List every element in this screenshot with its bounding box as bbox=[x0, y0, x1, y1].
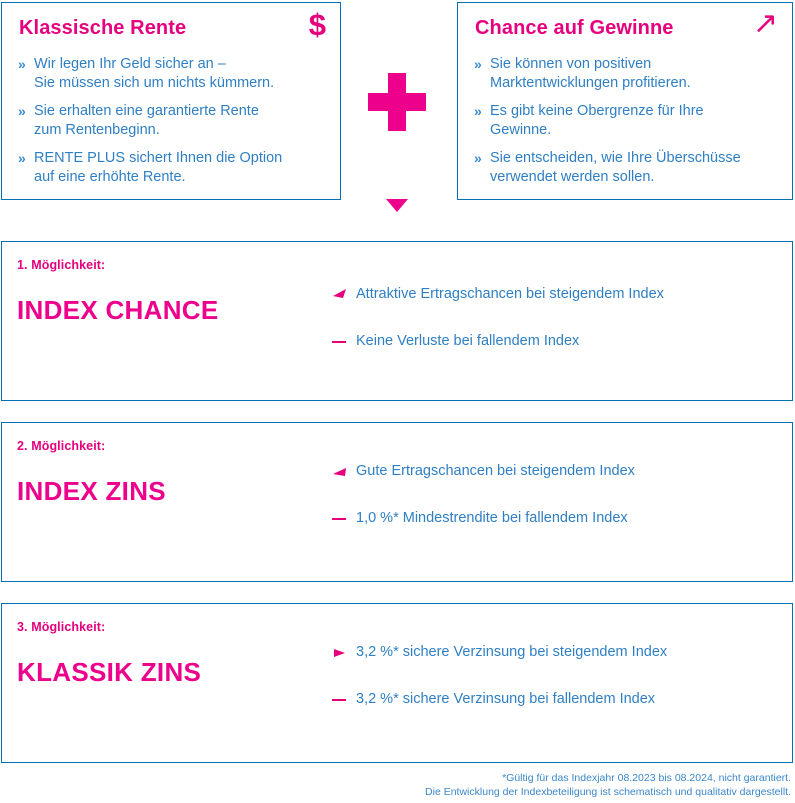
option-points-list: 3,2 %* sichere Verzinsung bei steigendem… bbox=[332, 644, 778, 738]
list-item-label: Gute Ertragschancen bei steigendem Index bbox=[356, 463, 635, 480]
list-item-label: Sie können von positiven Marktentwicklun… bbox=[490, 55, 691, 93]
list-item: » Sie erhalten eine garantierte Rente zu… bbox=[18, 102, 328, 140]
list-item: » Sie entscheiden, wie Ihre Überschüsse … bbox=[474, 149, 780, 187]
dash-icon bbox=[332, 333, 356, 350]
arrow-right-tilt-icon bbox=[332, 463, 356, 480]
chevron-double-right-icon: » bbox=[18, 55, 34, 74]
list-item-label: 3,2 %* sichere Verzinsung bei fallendem … bbox=[356, 691, 655, 708]
dash-icon bbox=[332, 691, 356, 708]
option-kicker: 3. Möglichkeit: bbox=[17, 620, 105, 634]
option-kicker: 2. Möglichkeit: bbox=[17, 439, 105, 453]
option-kicker: 1. Möglichkeit: bbox=[17, 258, 105, 272]
plus-icon bbox=[368, 73, 426, 131]
dash-icon bbox=[332, 510, 356, 527]
list-item: 1,0 %* Mindestrendite bei fallendem Inde… bbox=[332, 510, 778, 527]
list-item-label: RENTE PLUS sichert Ihnen die Option auf … bbox=[34, 149, 282, 187]
list-item-label: Sie erhalten eine garantierte Rente zum … bbox=[34, 102, 259, 140]
chevron-double-right-icon: » bbox=[18, 149, 34, 168]
list-item-label: Es gibt keine Obergrenze für Ihre Gewinn… bbox=[490, 102, 704, 140]
list-item-label: 3,2 %* sichere Verzinsung bei steigendem… bbox=[356, 644, 667, 661]
card-chance-auf-gewinne: Chance auf Gewinne ↗ » Sie können von po… bbox=[457, 2, 793, 200]
list-item-label: Attraktive Ertragschancen bei steigendem… bbox=[356, 286, 664, 303]
option-title: KLASSIK ZINS bbox=[17, 657, 201, 688]
option-title: INDEX CHANCE bbox=[17, 295, 219, 326]
benefit-list-chance-auf-gewinne: » Sie können von positiven Marktentwickl… bbox=[474, 55, 780, 196]
triangle-down-icon bbox=[386, 199, 408, 212]
chevron-double-right-icon: » bbox=[18, 102, 34, 121]
option-points-list: Gute Ertragschancen bei steigendem Index… bbox=[332, 463, 778, 557]
list-item-label: Wir legen Ihr Geld sicher an – Sie müsse… bbox=[34, 55, 274, 93]
list-item: Keine Verluste bei fallendem Index bbox=[332, 333, 778, 350]
list-item: 3,2 %* sichere Verzinsung bei fallendem … bbox=[332, 691, 778, 708]
list-item: » RENTE PLUS sichert Ihnen die Option au… bbox=[18, 149, 328, 187]
list-item: » Wir legen Ihr Geld sicher an – Sie müs… bbox=[18, 55, 328, 93]
list-item: Attraktive Ertragschancen bei steigendem… bbox=[332, 286, 778, 303]
list-item-label: 1,0 %* Mindestrendite bei fallendem Inde… bbox=[356, 510, 628, 527]
list-item: » Sie können von positiven Marktentwickl… bbox=[474, 55, 780, 93]
card-klassische-rente: Klassische Rente $ » Wir legen Ihr Geld … bbox=[1, 2, 341, 200]
option-card-index-zins: 2. Möglichkeit: INDEX ZINS Gute Ertragsc… bbox=[1, 422, 793, 582]
card-title-chance-auf-gewinne: Chance auf Gewinne bbox=[475, 17, 674, 40]
option-card-klassik-zins: 3. Möglichkeit: KLASSIK ZINS 3,2 %* sich… bbox=[1, 603, 793, 763]
chevron-double-right-icon: » bbox=[474, 55, 490, 74]
footnote-line-2: Die Entwicklung der Indexbeteiligung ist… bbox=[425, 785, 791, 799]
chevron-double-right-icon: » bbox=[474, 149, 490, 168]
list-item-label: Sie entscheiden, wie Ihre Überschüsse ve… bbox=[490, 149, 741, 187]
chevron-double-right-icon: » bbox=[474, 102, 490, 121]
dollar-icon: $ bbox=[309, 9, 326, 40]
arrow-up-right-icon: ↗ bbox=[753, 9, 778, 39]
benefit-list-klassische-rente: » Wir legen Ihr Geld sicher an – Sie müs… bbox=[18, 55, 328, 196]
footnote-line-1: *Gültig für das Indexjahr 08.2023 bis 08… bbox=[425, 771, 791, 785]
list-item-label: Keine Verluste bei fallendem Index bbox=[356, 333, 579, 350]
footnote: *Gültig für das Indexjahr 08.2023 bis 08… bbox=[425, 771, 791, 799]
option-title: INDEX ZINS bbox=[17, 476, 166, 507]
option-points-list: Attraktive Ertragschancen bei steigendem… bbox=[332, 286, 778, 380]
arrow-right-icon bbox=[332, 644, 356, 661]
list-item: » Es gibt keine Obergrenze für Ihre Gewi… bbox=[474, 102, 780, 140]
list-item: Gute Ertragschancen bei steigendem Index bbox=[332, 463, 778, 480]
card-title-klassische-rente: Klassische Rente bbox=[19, 17, 186, 40]
arrow-up-right-small-icon bbox=[332, 286, 356, 303]
option-card-index-chance: 1. Möglichkeit: INDEX CHANCE Attraktive … bbox=[1, 241, 793, 401]
list-item: 3,2 %* sichere Verzinsung bei steigendem… bbox=[332, 644, 778, 661]
